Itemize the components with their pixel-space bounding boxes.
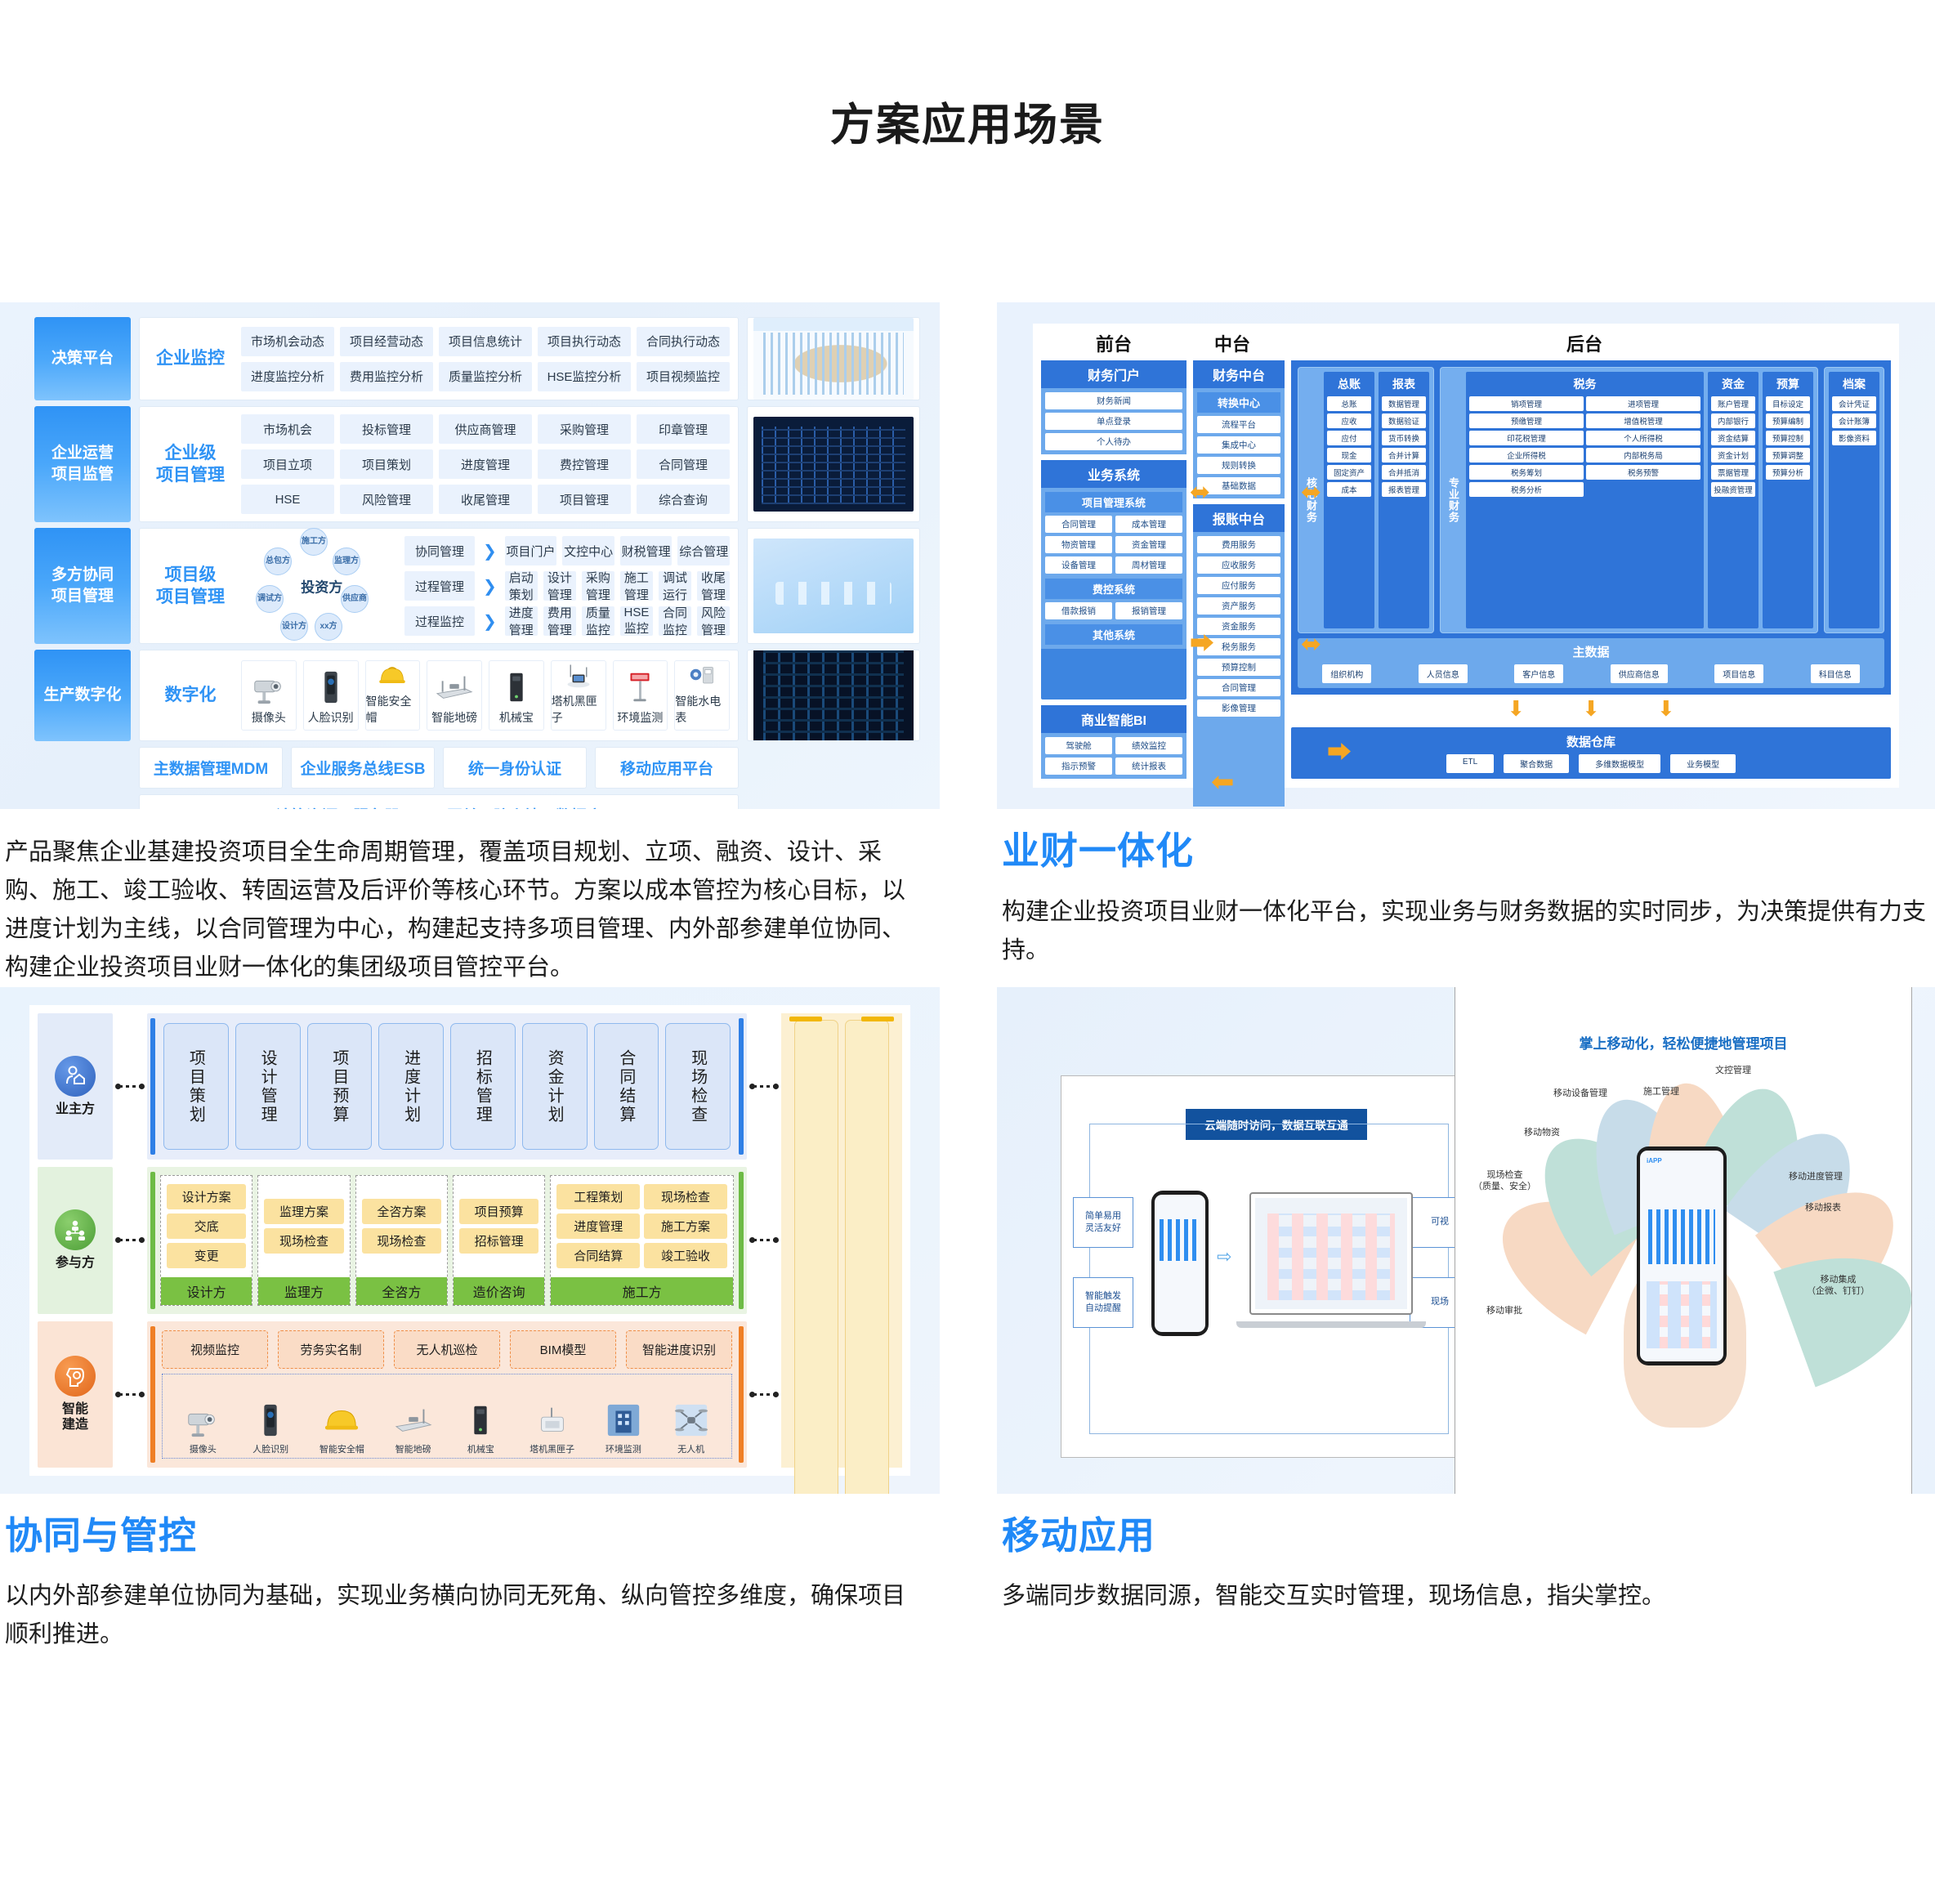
module-item[interactable]: 应付 bbox=[1327, 431, 1371, 445]
left-right-arrow-icon: ⬌ bbox=[1301, 632, 1321, 657]
module-item[interactable]: 成本 bbox=[1327, 482, 1371, 497]
device-label: 智能安全帽 bbox=[366, 693, 420, 726]
flow-item[interactable]: 文控中心 bbox=[562, 536, 614, 565]
box-item[interactable]: 单点登录 bbox=[1045, 413, 1182, 430]
stakeholder-node[interactable]: 供应商 bbox=[341, 585, 369, 613]
owner-card[interactable]: 资金计划 bbox=[522, 1023, 588, 1150]
participants-group-icon bbox=[55, 1209, 96, 1250]
arch-tile[interactable]: 印章管理 bbox=[637, 414, 730, 444]
fan-label: 文控管理 bbox=[1715, 1065, 1751, 1076]
camera-icon bbox=[250, 668, 288, 707]
master-data-item[interactable]: 人员信息 bbox=[1419, 664, 1468, 683]
stakeholder-node[interactable]: xx方 bbox=[315, 613, 342, 641]
down-arrow-icon: ⬇ bbox=[1507, 698, 1525, 719]
connector-column-right bbox=[752, 1013, 776, 1468]
multi-device-screenshot: 云端随时访问，数据互联互通 简单易用灵活友好 智能触发自动提醒 可视 现场 bbox=[1061, 1075, 1482, 1458]
participant-item[interactable]: 合同结算 bbox=[556, 1243, 640, 1268]
smart-device-row: 摄像头 人脸识别 智能安全帽 bbox=[162, 1374, 732, 1459]
box-item[interactable]: 报销管理 bbox=[1115, 602, 1182, 619]
module-item[interactable]: 个人所得税 bbox=[1586, 431, 1700, 445]
caption-title: 业财一体化 bbox=[1002, 830, 1928, 872]
arch-row-label: 决策平台 bbox=[34, 317, 131, 400]
subgroup-title: 项目管理系统 bbox=[1045, 492, 1182, 512]
module-item[interactable]: 现金 bbox=[1327, 448, 1371, 463]
box-item[interactable]: 资金管理 bbox=[1115, 536, 1182, 553]
platform-service-item[interactable]: 统一身份认证 bbox=[443, 747, 587, 789]
stakeholder-node[interactable]: 调试方 bbox=[256, 585, 284, 613]
chevron-right-icon: ❯ bbox=[480, 576, 499, 597]
module-budget: 预算 目标设定 预算编制 预算控制 预算调整 预算分析 bbox=[1763, 372, 1813, 628]
support-item[interactable]: 会议管理 bbox=[794, 1020, 838, 1494]
weighbridge-icon bbox=[436, 668, 473, 707]
module-item[interactable]: 预算分析 bbox=[1766, 465, 1810, 480]
module-item[interactable]: 印花税管理 bbox=[1469, 431, 1584, 445]
right-arrow-icon: ⮕ bbox=[1327, 741, 1352, 766]
face-recognition-icon bbox=[252, 1401, 289, 1440]
module-item[interactable]: 固定资产 bbox=[1327, 465, 1371, 480]
arch-tile[interactable]: 市场机会动态 bbox=[241, 327, 334, 356]
box-item[interactable]: 流程平台 bbox=[1197, 416, 1280, 433]
flow-item[interactable]: 施工管理 bbox=[620, 571, 653, 601]
archive-group: 档案 会计凭证 会计账簿 影像资料 bbox=[1824, 367, 1884, 633]
participant-item[interactable]: 现场检查 bbox=[362, 1228, 441, 1254]
arch-row-category: 企业监控 bbox=[148, 347, 233, 369]
actor-owner[interactable]: 业主方 bbox=[38, 1013, 113, 1160]
fan-label: 移动审批 bbox=[1486, 1305, 1522, 1316]
master-data-section: 主数据 组织机构 人员信息 客户信息 供应商信息 项目信息 科目信息 bbox=[1298, 638, 1884, 688]
down-arrow-icon: ⬇ bbox=[1657, 698, 1675, 719]
box-item[interactable]: 应收服务 bbox=[1197, 556, 1280, 574]
device-card[interactable]: 环境监测 bbox=[613, 660, 668, 731]
box-item[interactable]: 借款报销 bbox=[1045, 602, 1112, 619]
arch-row-label: 生产数字化 bbox=[34, 650, 131, 741]
face-recognition-icon bbox=[312, 668, 350, 707]
arch-row-label: 多方协同 项目管理 bbox=[34, 528, 131, 644]
box-item[interactable]: 合同管理 bbox=[1197, 679, 1280, 696]
stakeholder-node[interactable]: 施工方 bbox=[300, 528, 328, 556]
app-name: iAPP bbox=[1647, 1157, 1662, 1164]
arch-tile[interactable]: 合同执行动态 bbox=[637, 327, 730, 356]
flow-row-head: 过程管理 bbox=[404, 571, 475, 601]
participant-group-name: 施工方 bbox=[551, 1277, 733, 1305]
module-archive: 档案 会计凭证 会计账簿 影像资料 bbox=[1829, 372, 1879, 628]
box-item[interactable]: 应付服务 bbox=[1197, 577, 1280, 594]
flow-item[interactable]: HSE监控 bbox=[620, 606, 653, 636]
module-item[interactable]: 数据管理 bbox=[1382, 396, 1426, 411]
box-item[interactable]: 指示预警 bbox=[1045, 758, 1112, 775]
device-card[interactable]: 塔机黑匣子 bbox=[551, 660, 606, 731]
module-title: 报表 bbox=[1382, 376, 1426, 392]
stakeholder-node[interactable]: 监理方 bbox=[333, 548, 360, 575]
arch-tile[interactable]: 收尾管理 bbox=[439, 485, 532, 514]
warehouse-item[interactable]: 聚合数据 bbox=[1504, 754, 1569, 773]
module-item[interactable]: 合并抵消 bbox=[1382, 465, 1426, 480]
arch-tile[interactable]: 进度管理 bbox=[439, 449, 532, 479]
platform-service-item[interactable]: 移动应用平台 bbox=[595, 747, 739, 789]
smart-item[interactable]: BIM模型 bbox=[510, 1330, 616, 1369]
flow-item[interactable]: 收尾管理 bbox=[697, 571, 730, 601]
flow-item[interactable]: 采购管理 bbox=[582, 571, 614, 601]
flow-item[interactable]: 设计管理 bbox=[543, 571, 576, 601]
box-item[interactable]: 预算控制 bbox=[1197, 659, 1280, 676]
arch-tile[interactable]: 项目视频监控 bbox=[637, 362, 730, 391]
device-card[interactable]: 机械宝 bbox=[462, 1401, 499, 1455]
participant-item[interactable]: 竣工验收 bbox=[644, 1243, 727, 1268]
panel-caption-platform: 产品聚焦企业基建投资项目全生命周期管理，覆盖项目规划、立项、融资、设计、采购、施… bbox=[0, 809, 932, 987]
participant-item[interactable]: 进度管理 bbox=[556, 1213, 640, 1239]
actor-participants[interactable]: 参与方 bbox=[38, 1167, 113, 1313]
left-right-arrow-icon: ⬌ bbox=[1301, 480, 1321, 505]
device-card[interactable]: 摄像头 bbox=[184, 1401, 221, 1455]
arch-tile[interactable]: 供应商管理 bbox=[439, 414, 532, 444]
actor-column: 业主方 参与方 bbox=[38, 1013, 113, 1468]
device-card[interactable]: 环境监测 bbox=[605, 1401, 642, 1455]
panel-cell-platform: 决策平台 企业监控 市场机会动态 项目经营动态 项目信息统计 项目执行动态 合同… bbox=[0, 302, 940, 987]
arch-tile[interactable]: 费用监控分析 bbox=[340, 362, 433, 391]
module-item[interactable]: 内部银行 bbox=[1711, 413, 1755, 428]
box-item[interactable]: 资产服务 bbox=[1197, 597, 1280, 615]
sync-arrow-icon: ⇨ bbox=[1217, 1246, 1231, 1267]
participant-item[interactable]: 变更 bbox=[167, 1243, 246, 1268]
crane-blackbox-icon bbox=[560, 661, 597, 691]
module-item[interactable]: 企业所得税 bbox=[1469, 448, 1584, 463]
actor-label: 参与方 bbox=[56, 1255, 95, 1271]
mobile-fan-screenshot: 掌上移动化，轻松便捷地管理项目 文控管理 施工管理 移动设备管理 移动物资 bbox=[1455, 987, 1912, 1494]
device-label: 机械宝 bbox=[499, 709, 534, 726]
participant-group: 项目预算 招标管理 造价咨询 bbox=[453, 1175, 545, 1305]
box-item[interactable]: 影像管理 bbox=[1197, 699, 1280, 717]
actor-label: 业主方 bbox=[56, 1102, 95, 1117]
device-card[interactable]: 智能地磅 bbox=[427, 660, 482, 731]
module-item[interactable]: 货币转换 bbox=[1382, 431, 1426, 445]
box-item[interactable]: 规则转换 bbox=[1197, 457, 1280, 474]
participant-group-name: 设计方 bbox=[161, 1277, 252, 1305]
box-item[interactable]: 财务新闻 bbox=[1045, 392, 1182, 409]
participant-group: 工程策划 现场检查 进度管理 施工方案 合同结算 竣工验收 施工方 bbox=[550, 1175, 734, 1305]
caption-title: 移动应用 bbox=[1002, 1515, 1928, 1557]
finance-column-headers: 前台 中台 后台 bbox=[1041, 330, 1891, 356]
caption-body: 产品聚焦企业基建投资项目全生命周期管理，覆盖项目规划、立项、融资、设计、采购、施… bbox=[5, 834, 925, 987]
support-item[interactable]: 档案管理 bbox=[845, 1020, 889, 1494]
master-data-item[interactable]: 组织机构 bbox=[1322, 664, 1371, 683]
module-item[interactable]: 增值税管理 bbox=[1586, 413, 1700, 428]
master-data-item[interactable]: 客户信息 bbox=[1514, 664, 1563, 683]
module-funds: 资金 账户管理 内部银行 资金结算 资金计划 票据管理 投融资管理 bbox=[1708, 372, 1758, 628]
arch-tile[interactable]: 质量监控分析 bbox=[439, 362, 532, 391]
participant-group: 设计方案 交底 变更 设计方 bbox=[160, 1175, 252, 1305]
platform-architecture-image: 决策平台 企业监控 市场机会动态 项目经营动态 项目信息统计 项目执行动态 合同… bbox=[0, 302, 940, 809]
flow-item[interactable]: 调试运行 bbox=[659, 571, 691, 601]
device-card[interactable]: 智能水电表 bbox=[674, 660, 730, 731]
participant-item[interactable]: 项目预算 bbox=[459, 1199, 538, 1224]
collaboration-architecture-image: 业主方 参与方 bbox=[0, 987, 940, 1494]
owner-card-list: 项目策划 设计管理 项目预算 进度计划 招标管理 资金计划 合同结算 现场检查 bbox=[155, 1018, 739, 1155]
smart-meter-icon bbox=[683, 661, 721, 691]
warehouse-item[interactable]: ETL bbox=[1446, 754, 1494, 773]
caption-body: 以内外部参建单位协同为基础，实现业务横向协同无死角、纵向管控多维度，确保项目顺利… bbox=[5, 1577, 925, 1654]
box-item[interactable]: 物资管理 bbox=[1045, 536, 1112, 553]
arch-tile[interactable]: HSE监控分析 bbox=[538, 362, 631, 391]
flow-item[interactable]: 进度管理 bbox=[505, 606, 538, 636]
flow-item[interactable]: 费用管理 bbox=[543, 606, 576, 636]
arch-tile-grid: 市场机会动态 项目经营动态 项目信息统计 项目执行动态 合同执行动态 进度监控分… bbox=[241, 327, 730, 391]
arch-tile[interactable]: 项目经营动态 bbox=[340, 327, 433, 356]
device-label: 智能水电表 bbox=[675, 693, 729, 726]
fan-label: 移动报表 bbox=[1805, 1202, 1841, 1213]
arch-row: 多方协同 项目管理 项目级 项目管理 投资方 施工方 监理方 供应商 xx方 设… bbox=[34, 528, 920, 644]
module-title: 资金 bbox=[1711, 376, 1755, 392]
dotted-connector bbox=[753, 1239, 775, 1241]
fan-label: 移动进度管理 bbox=[1789, 1171, 1843, 1182]
flow-item[interactable]: 启动策划 bbox=[505, 571, 538, 601]
smart-item-row: 视频监控 劳务实名制 无人机巡检 BIM模型 智能进度识别 bbox=[162, 1330, 732, 1369]
device-label: 智能安全帽 bbox=[320, 1442, 364, 1455]
device-card[interactable]: 智能安全帽 bbox=[365, 660, 421, 731]
warehouse-item[interactable]: 多维数据模型 bbox=[1579, 754, 1660, 773]
device-card[interactable]: 摄像头 bbox=[241, 660, 297, 731]
participant-group-name: 造价咨询 bbox=[454, 1277, 544, 1305]
arch-tile[interactable]: 综合查询 bbox=[637, 485, 730, 514]
box-item[interactable]: 成本管理 bbox=[1115, 516, 1182, 533]
arch-tile[interactable]: 市场机会 bbox=[241, 414, 334, 444]
phone-mockup-hand: iAPP bbox=[1637, 1146, 1727, 1365]
support-services-column: 会议管理 档案管理 考勤管理 工作流管理 文档管理 角色门户 bbox=[781, 1013, 902, 1468]
participant-item[interactable]: 招标管理 bbox=[459, 1228, 538, 1254]
device-label: 人脸识别 bbox=[308, 709, 354, 726]
device-card[interactable]: 智能安全帽 bbox=[320, 1401, 364, 1455]
module-item[interactable]: 预算控制 bbox=[1766, 431, 1810, 445]
module-item[interactable]: 合并计算 bbox=[1382, 448, 1426, 463]
module-item[interactable]: 账户管理 bbox=[1711, 396, 1755, 411]
arch-tile[interactable]: 费控管理 bbox=[538, 449, 631, 479]
arch-tile[interactable]: 合同管理 bbox=[637, 449, 730, 479]
platform-service-bar: 主数据管理MDM 企业服务总线ESB 统一身份认证 移动应用平台 bbox=[139, 747, 739, 789]
module-item[interactable]: 总账 bbox=[1327, 396, 1371, 411]
device-card[interactable]: 人脸识别 bbox=[303, 660, 359, 731]
box-item[interactable]: 合同管理 bbox=[1045, 516, 1112, 533]
actor-smart-construction[interactable]: 智能 建造 bbox=[38, 1321, 113, 1468]
device-label: 无人机 bbox=[677, 1442, 704, 1455]
box-item[interactable]: 驾驶舱 bbox=[1045, 737, 1112, 754]
module-title: 预算 bbox=[1766, 376, 1810, 392]
caption-title: 协同与管控 bbox=[5, 1515, 925, 1557]
participant-item[interactable]: 监理方案 bbox=[264, 1199, 343, 1224]
module-item[interactable]: 销项管理 bbox=[1469, 396, 1584, 411]
stakeholder-center-label: 投资方 bbox=[301, 576, 342, 597]
arch-tile[interactable]: 项目立项 bbox=[241, 449, 334, 479]
accent-bar bbox=[861, 1017, 894, 1021]
dotted-connector bbox=[119, 1085, 141, 1088]
module-title: 总账 bbox=[1327, 376, 1371, 392]
box-item[interactable]: 周材管理 bbox=[1115, 556, 1182, 574]
master-data-item[interactable]: 科目信息 bbox=[1811, 664, 1860, 683]
flow-item[interactable]: 综合管理 bbox=[677, 536, 730, 565]
arch-row-category: 数字化 bbox=[148, 684, 233, 706]
box-title: 商业智能BI bbox=[1041, 705, 1186, 733]
device-card[interactable]: 人脸识别 bbox=[252, 1401, 289, 1455]
panel-cell-collaboration: 业主方 参与方 bbox=[0, 987, 940, 1655]
flow-item[interactable]: 质量监控 bbox=[582, 606, 614, 636]
box-item[interactable]: 统计报表 bbox=[1115, 758, 1182, 775]
header-mid: 中台 bbox=[1186, 330, 1278, 356]
participant-group: 全咨方案 现场检查 全咨方 bbox=[355, 1175, 448, 1305]
box-item[interactable]: 费用服务 bbox=[1197, 536, 1280, 553]
crane-blackbox-icon bbox=[534, 1401, 571, 1440]
dotted-connector bbox=[753, 1085, 775, 1088]
environment-monitor-icon bbox=[605, 1401, 642, 1440]
owner-card[interactable]: 项目预算 bbox=[307, 1023, 373, 1150]
fan-label: 移动集成 （企微、钉钉） bbox=[1807, 1274, 1870, 1298]
box-title: 业务系统 bbox=[1041, 460, 1186, 488]
arch-tile[interactable]: 项目信息统计 bbox=[439, 327, 532, 356]
module-item[interactable]: 进项管理 bbox=[1586, 396, 1700, 411]
module-item[interactable]: 预缴管理 bbox=[1469, 413, 1584, 428]
header-front: 前台 bbox=[1041, 330, 1186, 356]
smart-item[interactable]: 无人机巡检 bbox=[394, 1330, 500, 1369]
dotted-connector bbox=[753, 1393, 775, 1396]
smart-helmet-icon bbox=[373, 661, 411, 691]
zone-edge-bar bbox=[739, 1018, 744, 1155]
module-item[interactable]: 目标设定 bbox=[1766, 396, 1810, 411]
right-arrow-icon: ⮕ bbox=[1190, 632, 1214, 657]
platform-service-item[interactable]: 企业服务总线ESB bbox=[291, 747, 435, 789]
stakeholder-node[interactable]: 设计方 bbox=[280, 613, 308, 641]
module-item[interactable]: 投融资管理 bbox=[1711, 482, 1755, 497]
arch-tile[interactable]: 项目管理 bbox=[538, 485, 631, 514]
scenario-grid: 决策平台 企业监控 市场机会动态 项目经营动态 项目信息统计 项目执行动态 合同… bbox=[0, 302, 1935, 1654]
owner-card[interactable]: 设计管理 bbox=[235, 1023, 301, 1150]
arch-tile[interactable]: 进度监控分析 bbox=[241, 362, 334, 391]
box-title: 财务门户 bbox=[1041, 360, 1186, 388]
business-system-box: 业务系统 项目管理系统 合同管理 成本管理 物资管理 bbox=[1041, 460, 1186, 699]
participant-item[interactable]: 工程策划 bbox=[556, 1184, 640, 1209]
data-warehouse-section: 数据仓库 ETL 聚合数据 多维数据模型 业务模型 bbox=[1291, 727, 1891, 779]
participant-item[interactable]: 交底 bbox=[167, 1213, 246, 1239]
fan-label: 施工管理 bbox=[1643, 1086, 1679, 1097]
smart-item[interactable]: 劳务实名制 bbox=[278, 1330, 384, 1369]
module-item[interactable]: 数据验证 bbox=[1382, 413, 1426, 428]
device-label: 人脸识别 bbox=[252, 1442, 288, 1455]
module-item[interactable]: 预算编制 bbox=[1766, 413, 1810, 428]
device-label: 环境监测 bbox=[606, 1442, 641, 1455]
participant-group-name: 监理方 bbox=[258, 1277, 349, 1305]
arch-tile-grid: 市场机会 投标管理 供应商管理 采购管理 印章管理 项目立项 项目策划 进度管理… bbox=[241, 414, 730, 514]
arch-tile[interactable]: 风险管理 bbox=[340, 485, 433, 514]
subgroup-title: 其他系统 bbox=[1045, 624, 1182, 645]
smart-helmet-icon bbox=[323, 1401, 360, 1440]
flow-item[interactable]: 风险管理 bbox=[697, 606, 730, 636]
module-item[interactable]: 应收 bbox=[1327, 413, 1371, 428]
participant-item[interactable]: 现场检查 bbox=[264, 1228, 343, 1254]
module-item[interactable]: 票据管理 bbox=[1711, 465, 1755, 480]
arch-tile[interactable]: 投标管理 bbox=[340, 414, 433, 444]
zone-edge-bar bbox=[739, 1326, 744, 1463]
compute-resource-footer: 计算资源：服务器、VPN网关、防火墙、数据库 bbox=[139, 794, 739, 809]
box-item[interactable]: 个人待办 bbox=[1045, 433, 1182, 450]
participant-item[interactable]: 全咨方案 bbox=[362, 1199, 441, 1224]
module-item[interactable]: 预算调整 bbox=[1766, 448, 1810, 463]
owner-card[interactable]: 项目策划 bbox=[163, 1023, 229, 1150]
arch-tile[interactable]: 项目执行动态 bbox=[538, 327, 631, 356]
flow-item[interactable]: 合同监控 bbox=[659, 606, 691, 636]
caption-body: 多端同步数据同源，智能交互实时管理，现场信息，指尖掌控。 bbox=[1002, 1577, 1928, 1616]
owner-card[interactable]: 合同结算 bbox=[594, 1023, 659, 1150]
device-card[interactable]: 无人机 bbox=[673, 1401, 710, 1455]
flow-row-head: 过程监控 bbox=[404, 606, 475, 636]
support-group: 会议管理 档案管理 bbox=[786, 1020, 897, 1494]
module-item[interactable]: 会计账簿 bbox=[1832, 413, 1876, 428]
module-item[interactable]: 影像资料 bbox=[1832, 431, 1876, 445]
arch-tile[interactable]: HSE bbox=[241, 485, 334, 514]
left-right-arrow-icon: ⬌ bbox=[1190, 480, 1210, 505]
mobile-application-image: 云端随时访问，数据互联互通 简单易用灵活友好 智能触发自动提醒 可视 现场 bbox=[997, 987, 1935, 1494]
flow-row-head: 协同管理 bbox=[404, 536, 475, 565]
module-item[interactable]: 报表管理 bbox=[1382, 482, 1426, 497]
panel-cell-finance: 前台 中台 后台 财务门户 财务新闻 单点 bbox=[997, 302, 1935, 987]
owner-card[interactable]: 招标管理 bbox=[450, 1023, 516, 1150]
collab-platform-thumb bbox=[747, 528, 920, 644]
module-title: 税务 bbox=[1469, 376, 1700, 392]
module-tax: 税务 销项管理 进项管理 预缴管理 增值税管理 印花税管理 bbox=[1466, 372, 1704, 628]
smart-item[interactable]: 智能进度识别 bbox=[626, 1330, 732, 1369]
fan-label: 现场检查 （质量、安全） bbox=[1473, 1169, 1536, 1193]
master-data-item[interactable]: 项目信息 bbox=[1714, 664, 1763, 683]
machine-box-icon bbox=[462, 1401, 499, 1440]
left-arrow-icon: ⬅ bbox=[1211, 768, 1235, 796]
participant-item[interactable]: 现场检查 bbox=[644, 1184, 727, 1209]
module-item[interactable]: 会计凭证 bbox=[1832, 396, 1876, 411]
owner-card[interactable]: 进度计划 bbox=[378, 1023, 444, 1150]
module-item[interactable]: 税务预警 bbox=[1586, 465, 1700, 480]
master-data-item[interactable]: 供应商信息 bbox=[1611, 664, 1668, 683]
module-item[interactable]: 税务分析 bbox=[1469, 482, 1584, 497]
smart-construction-zone: 视频监控 劳务实名制 无人机巡检 BIM模型 智能进度识别 bbox=[147, 1321, 747, 1468]
mobile-headline: 掌上移动化，轻松便捷地管理项目 bbox=[1455, 1032, 1911, 1053]
module-item[interactable]: 内部税务局 bbox=[1586, 448, 1700, 463]
smart-item[interactable]: 视频监控 bbox=[162, 1330, 268, 1369]
warehouse-item[interactable]: 业务模型 bbox=[1670, 754, 1736, 773]
arch-row: 生产数字化 数字化 摄像头 人脸识别 bbox=[34, 650, 920, 741]
arch-tile[interactable]: 采购管理 bbox=[538, 414, 631, 444]
subgroup-title: 转换中心 bbox=[1197, 392, 1280, 413]
module-item[interactable]: 资金计划 bbox=[1711, 448, 1755, 463]
arch-row: 决策平台 企业监控 市场机会动态 项目经营动态 项目信息统计 项目执行动态 合同… bbox=[34, 317, 920, 400]
flow-item[interactable]: 财税管理 bbox=[620, 536, 673, 565]
box-item[interactable]: 设备管理 bbox=[1045, 556, 1112, 574]
arch-row: 企业运营 项目监管 企业级 项目管理 市场机会 投标管理 供应商管理 采购管理 … bbox=[34, 406, 920, 522]
device-card[interactable]: 机械宝 bbox=[489, 660, 544, 731]
device-card[interactable]: 塔机黑匣子 bbox=[530, 1401, 574, 1455]
laptop-mockup bbox=[1249, 1192, 1413, 1315]
device-card[interactable]: 智能地磅 bbox=[395, 1401, 432, 1455]
middle-platform-column: 财务中台 转换中心 流程平台 集成中心 规则转换 基础数据 bbox=[1193, 360, 1285, 779]
platform-service-item[interactable]: 主数据管理MDM bbox=[139, 747, 283, 789]
stakeholder-node[interactable]: 总包方 bbox=[264, 548, 292, 575]
owner-card[interactable]: 现场检查 bbox=[665, 1023, 731, 1150]
module-item[interactable]: 税务筹划 bbox=[1469, 465, 1584, 480]
box-item[interactable]: 绩效监控 bbox=[1115, 737, 1182, 754]
participant-item[interactable]: 施工方案 bbox=[644, 1213, 727, 1239]
flow-item[interactable]: 项目门户 bbox=[505, 536, 557, 565]
participant-group: 监理方案 现场检查 监理方 bbox=[257, 1175, 350, 1305]
box-item[interactable]: 集成中心 bbox=[1197, 436, 1280, 454]
participant-item[interactable]: 设计方案 bbox=[167, 1184, 246, 1209]
page-title: 方案应用场景 bbox=[0, 0, 1935, 153]
arch-tile[interactable]: 项目策划 bbox=[340, 449, 433, 479]
module-item[interactable]: 资金结算 bbox=[1711, 431, 1755, 445]
participant-group-list: 设计方案 交底 变更 设计方 监理方案 bbox=[155, 1172, 739, 1308]
fan-label: 移动物资 bbox=[1524, 1127, 1560, 1138]
